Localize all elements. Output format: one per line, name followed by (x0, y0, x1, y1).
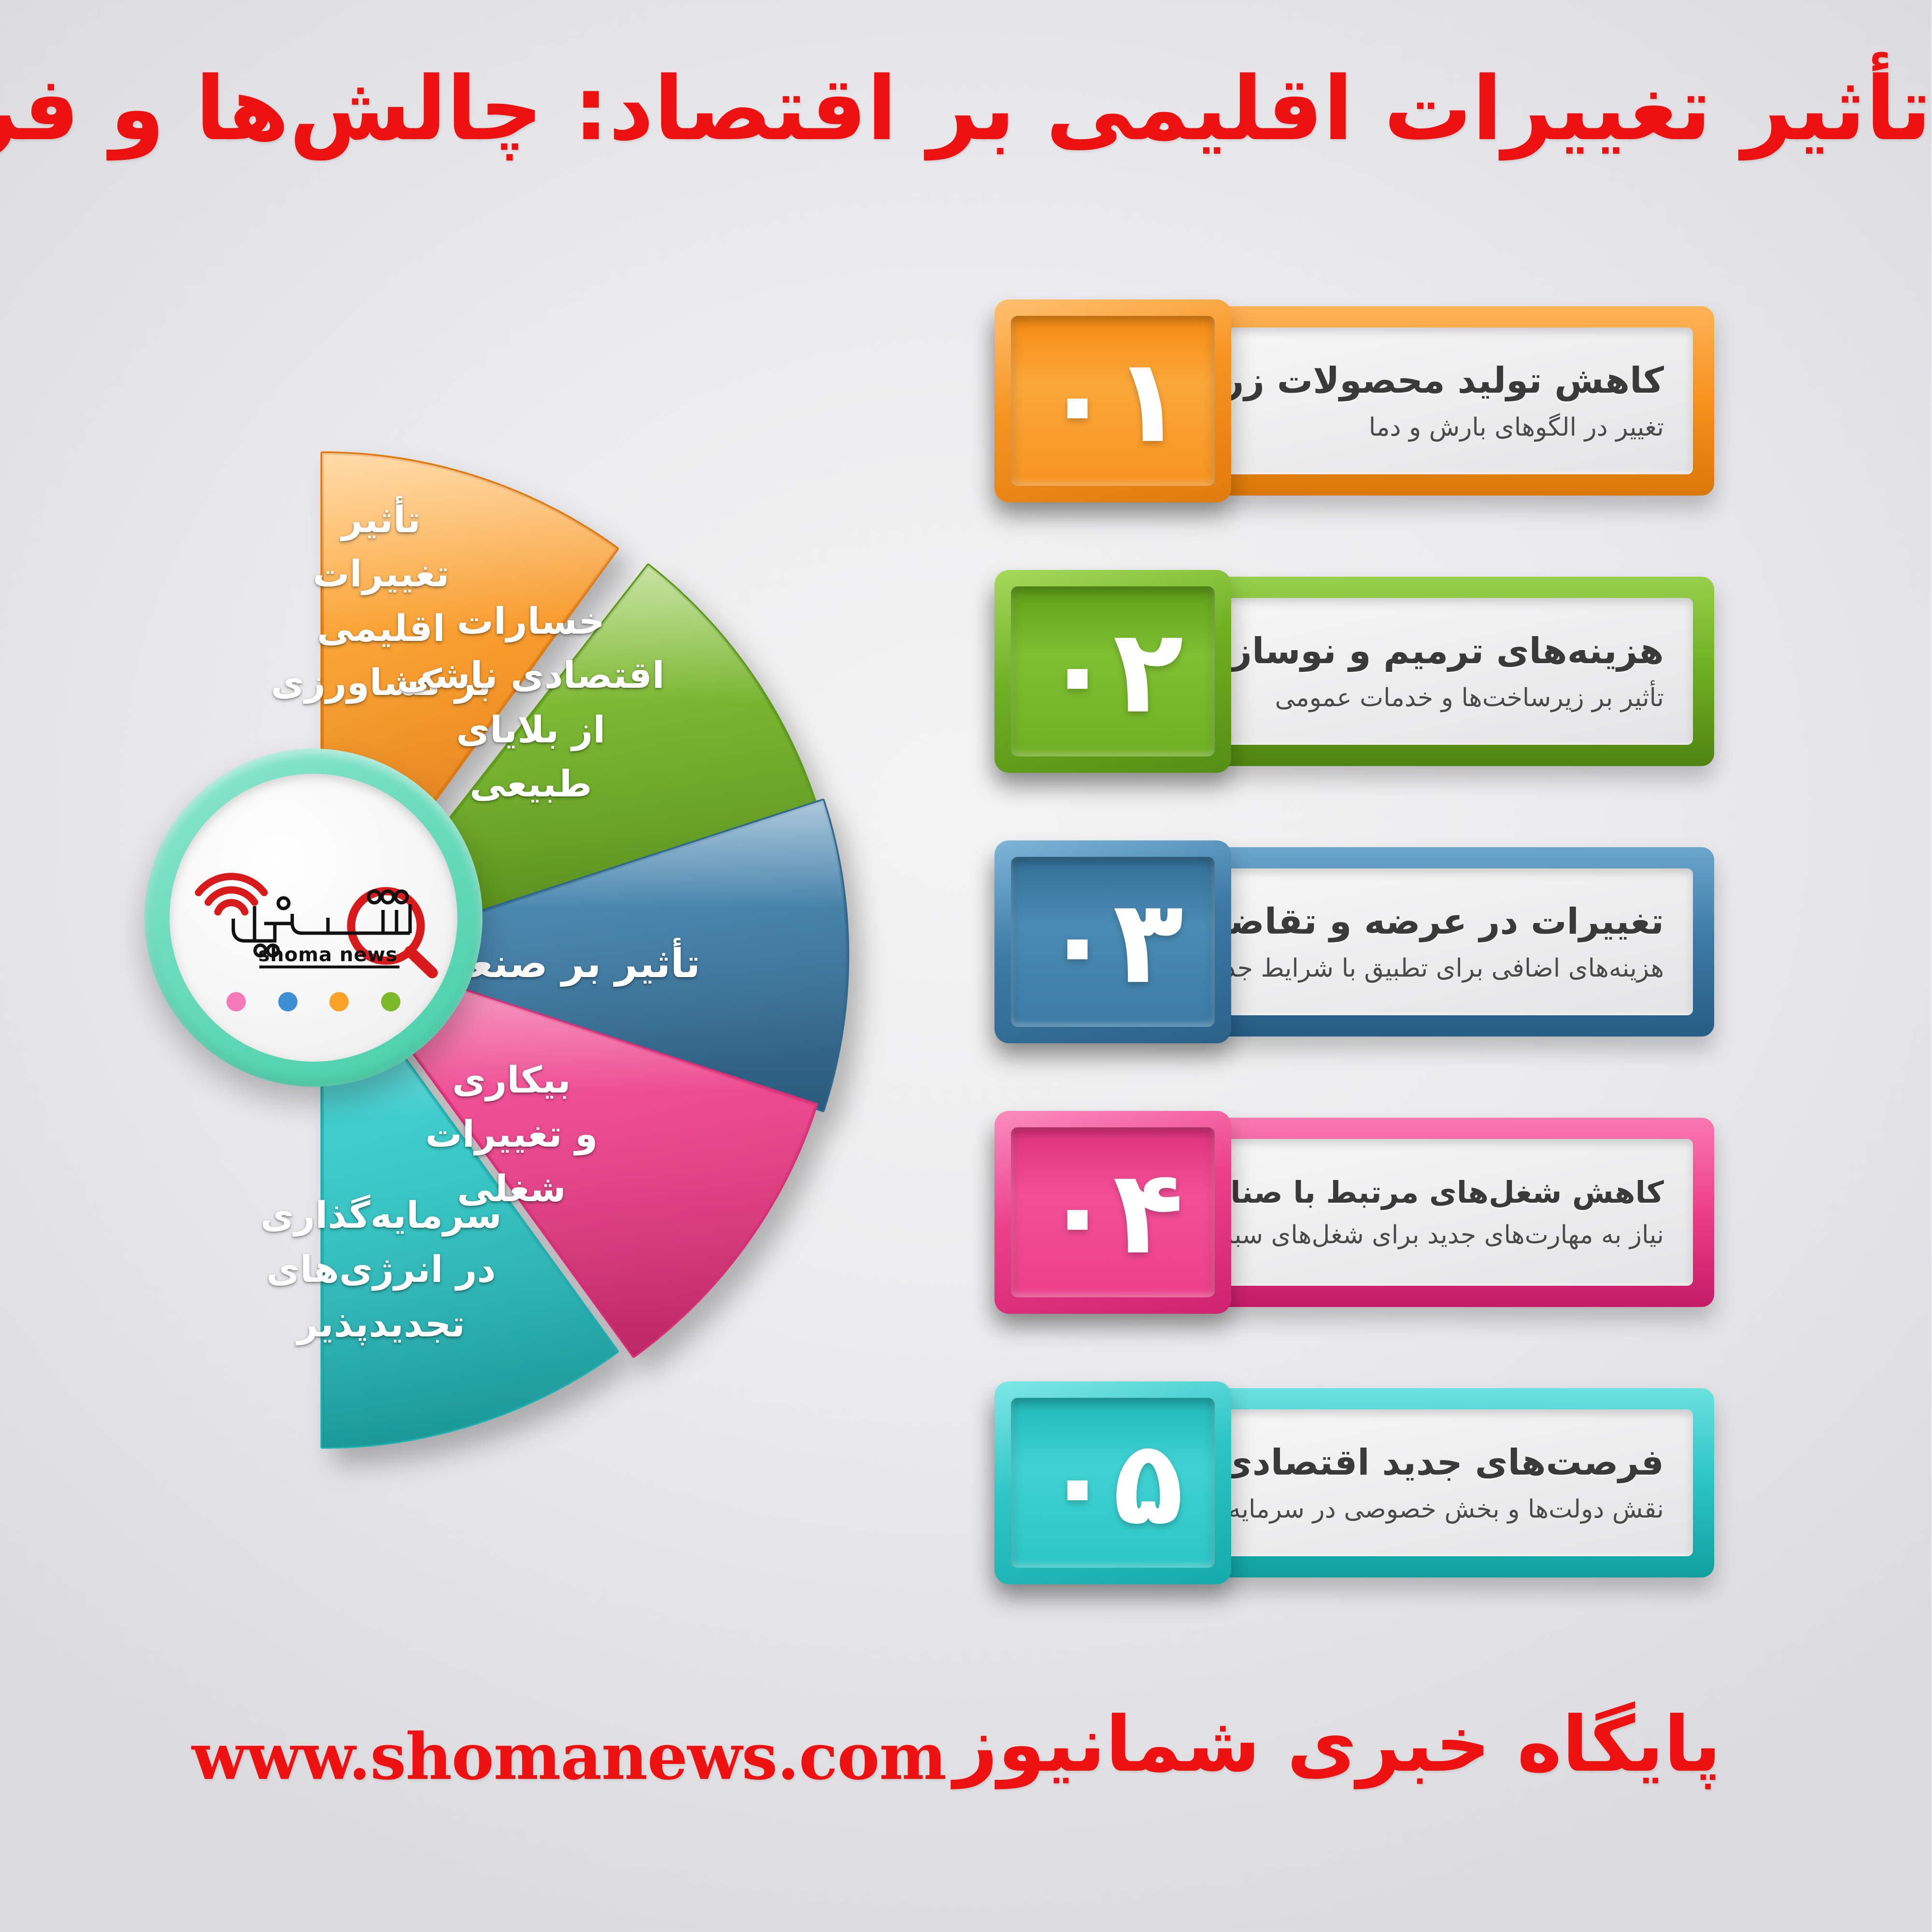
numbered-card-list: کاهش تولید محصولات زراعی تغییر در الگوها… (995, 299, 1787, 1652)
number-tile-3[interactable]: ۰۳ (995, 840, 1232, 1043)
infographic-canvas: تأثیر تغییرات اقلیمی بر اقتصاد: چالش‌ها … (0, 0, 1932, 1932)
number-tile-5[interactable]: ۰۵ (995, 1381, 1232, 1584)
card-number: ۰۲ (1043, 613, 1184, 729)
half-pie-chart: تأثیر تغییرات اقلیمی بر کشاورزی خسارات ا… (87, 309, 937, 1623)
list-item[interactable]: فرصت‌های جدید اقتصادی نقش دولت‌ها و بخش … (995, 1381, 1787, 1584)
number-tile-1[interactable]: ۰۱ (995, 299, 1232, 502)
footer-brand: پایگاه خبری شمانیوز (927, 1700, 1748, 1789)
card-number: ۰۴ (1043, 1154, 1184, 1270)
list-item[interactable]: کاهش تولید محصولات زراعی تغییر در الگوها… (995, 299, 1787, 502)
card-number: ۰۱ (1043, 343, 1184, 459)
brand-logo-badge: shoma news (145, 749, 483, 1087)
number-tile-4[interactable]: ۰۴ (995, 1111, 1232, 1314)
brand-wordmark-en: shoma news (259, 944, 398, 966)
shoma-news-logo: shoma news (184, 846, 444, 991)
number-tile-2[interactable]: ۰۲ (995, 570, 1232, 773)
logo-dot-green (382, 992, 401, 1011)
page-title: تأثیر تغییرات اقلیمی بر اقتصاد: چالش‌ها … (0, 57, 1932, 161)
list-item[interactable]: تغییرات در عرضه و تقاضا هزینه‌های اضافی … (995, 840, 1787, 1043)
card-number: ۰۳ (1043, 884, 1184, 1000)
list-item[interactable]: هزینه‌های ترمیم و نوسازی تأثیر بر زیرساخ… (995, 570, 1787, 773)
logo-inner-circle: shoma news (170, 774, 458, 1062)
list-item[interactable]: کاهش شغل‌های مرتبط با صنایع آسیب‌پذیر نی… (995, 1111, 1787, 1314)
logo-dot-pink (227, 992, 246, 1011)
footer-website[interactable]: www.shomanews.com (270, 1719, 947, 1794)
logo-dots (227, 992, 401, 1011)
card-number: ۰۵ (1043, 1425, 1184, 1541)
logo-dot-blue (279, 992, 298, 1011)
logo-dot-orange (330, 992, 349, 1011)
